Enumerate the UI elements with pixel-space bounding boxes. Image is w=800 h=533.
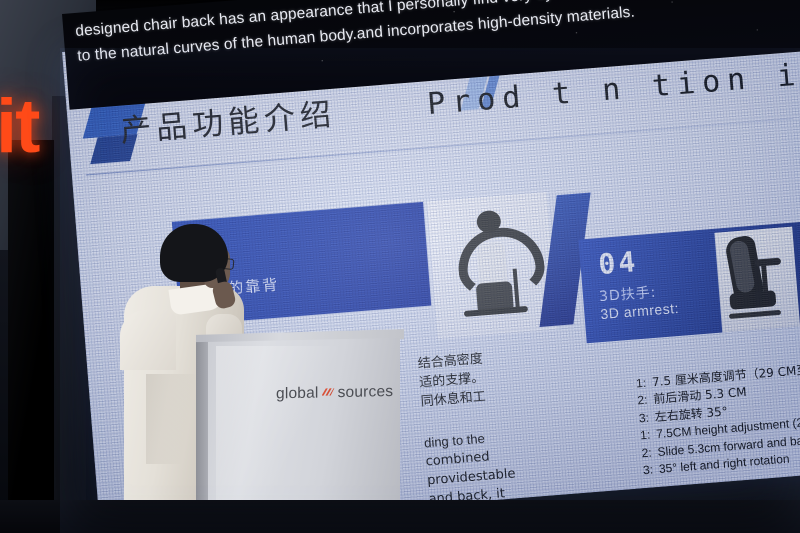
spec-number: 1: [640,426,657,445]
spec-number: 1: [635,374,652,393]
spec-number: 3: [642,461,659,480]
logo-word-sources: sources [338,383,394,402]
office-chair-photo [714,227,800,333]
chair-armrest-post [761,263,768,293]
conference-presentation-photo: it 产品功能介绍 Prod t n tion introd tion 计的靠背… [0,0,800,533]
chair-base [729,310,781,319]
middle-text-column: 结合高密度 适的支撑。 同休息和工 ding to the combined p… [417,340,619,510]
spec-number: 2: [641,444,658,463]
venue-signage-letters: it [0,78,66,188]
podium-logo: global sources [276,381,412,406]
floor [0,500,800,533]
spec-number: 3: [638,409,655,428]
chevrons-mark-icon [322,388,335,399]
chair-base [464,306,528,317]
spec-number: 2: [637,392,654,411]
logo-word-global: global [276,385,319,404]
left-pillar-front [8,140,54,533]
person-on-chair-figure [448,206,537,330]
section-number: 04 [597,245,639,281]
podium-highlight [216,346,336,526]
chair-seat [729,290,776,310]
armrest-spec-list: 1:7.5 厘米高度调节（29 CM至 36.5CM） 2:前后滑动 5.3 C… [596,357,800,483]
chair-armrest [755,258,781,267]
presenter-shoulder [120,310,176,370]
